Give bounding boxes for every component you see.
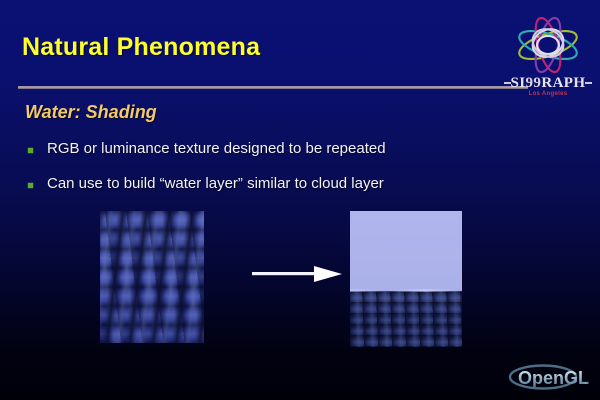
water-layer-render-image — [350, 211, 462, 347]
list-item: RGB or luminance texture designed to be … — [28, 140, 528, 159]
siggraph-wordmark: SI99RAPH — [500, 75, 596, 92]
title-divider — [18, 86, 528, 89]
bullet-list: RGB or luminance texture designed to be … — [28, 140, 528, 210]
siggraph-city: Los Angeles — [500, 91, 596, 97]
bullet-dot-icon — [28, 148, 33, 153]
wordmark-year: 99 — [526, 75, 542, 91]
horizon-line — [350, 289, 462, 292]
section-subtitle: Water: Shading — [25, 102, 157, 123]
wordmark-suffix: RAPH — [541, 75, 585, 91]
sea-region — [350, 291, 462, 347]
wordmark-right-dash — [585, 82, 592, 84]
wordmark-left-dash — [504, 82, 511, 84]
wordmark-prefix: SI — [511, 75, 526, 91]
right-arrow-icon — [252, 265, 342, 283]
water-texture-image — [100, 211, 204, 343]
bullet-text: Can use to build “water layer” similar t… — [47, 175, 384, 194]
list-item: Can use to build “water layer” similar t… — [28, 175, 528, 194]
slide: Natural Phenomena Water: Shading RGB or … — [0, 0, 600, 400]
svg-text:.: . — [584, 375, 587, 387]
siggraph-rings-icon — [500, 12, 596, 78]
siggraph-logo: SI99RAPH Los Angeles — [500, 12, 596, 104]
bullet-dot-icon — [28, 183, 33, 188]
bullet-text: RGB or luminance texture designed to be … — [47, 140, 386, 159]
page-title: Natural Phenomena — [22, 33, 260, 62]
svg-text:OpenGL: OpenGL — [518, 368, 589, 388]
opengl-logo-icon: OpenGL . — [505, 362, 593, 392]
sky-region — [350, 211, 462, 291]
opengl-logo: OpenGL . — [505, 362, 593, 392]
